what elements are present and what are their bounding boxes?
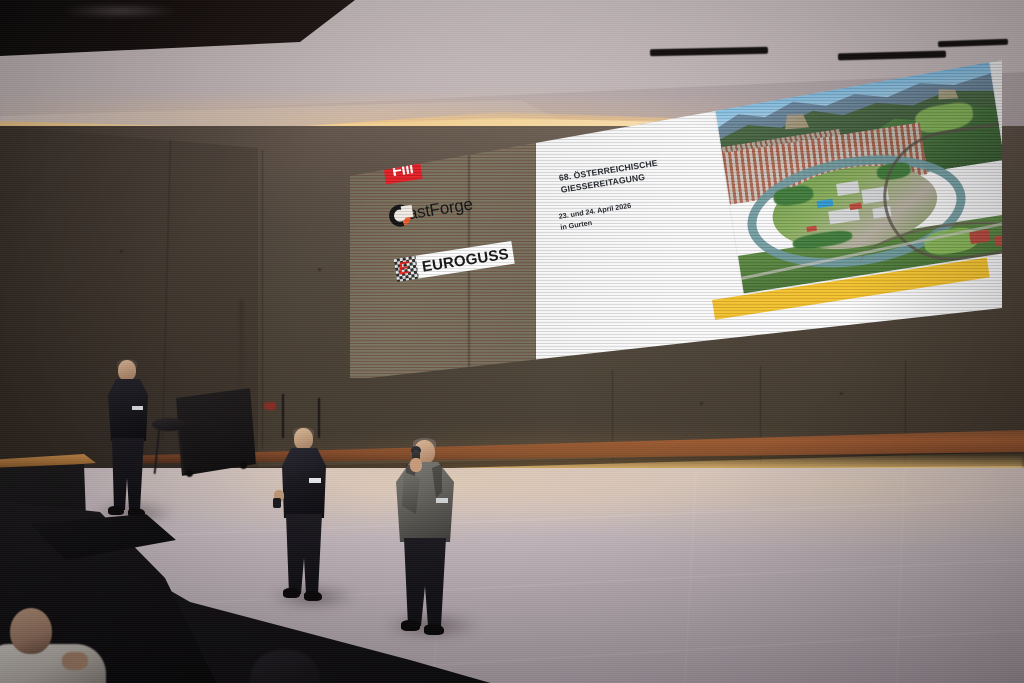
slide-subtitle: 23. und 24. April 2026 in Gurten	[558, 189, 709, 233]
audience-member-body	[0, 644, 106, 683]
suit-jacket	[108, 379, 148, 441]
person-left	[96, 360, 166, 522]
cart-red-object	[264, 402, 276, 410]
person-center-presenter	[272, 428, 344, 606]
trousers	[404, 538, 446, 626]
shoe	[108, 506, 124, 515]
castforge-logo: astForge	[387, 193, 474, 230]
shoe	[283, 588, 300, 598]
head	[118, 360, 136, 381]
shoe	[424, 624, 444, 635]
trousers	[286, 514, 322, 594]
cart-wheel	[186, 470, 193, 477]
head	[294, 428, 313, 450]
pocket-square	[132, 406, 143, 410]
conference-hall-photo: Fill astForge EUROGUSS 68. ÖSTERREICHISC…	[0, 0, 1024, 683]
presentation-clicker	[273, 498, 281, 508]
euroguss-logo-label: EUROGUSS	[415, 241, 515, 279]
person-right-speaker	[388, 440, 472, 636]
audience-member-head	[10, 608, 52, 654]
euroguss-logo: EUROGUSS	[394, 241, 516, 282]
shoe	[401, 620, 420, 631]
photo-house	[994, 234, 1002, 246]
shoe	[304, 591, 322, 601]
castforge-logo-label: astForge	[406, 194, 474, 224]
pocket-square	[309, 478, 321, 483]
castforge-c-mark	[387, 203, 412, 228]
pocket-square	[436, 498, 448, 503]
slide-title: 68. ÖSTERREICHISCHE GIESSEREITAGUNG	[558, 149, 710, 196]
cart-wheel	[240, 462, 247, 469]
suit-jacket	[282, 448, 326, 518]
hand	[410, 458, 422, 472]
soffit-highlight	[60, 4, 180, 18]
euroguss-e-mark	[394, 256, 419, 282]
audience-member-hand	[62, 652, 88, 670]
trousers	[112, 438, 144, 510]
